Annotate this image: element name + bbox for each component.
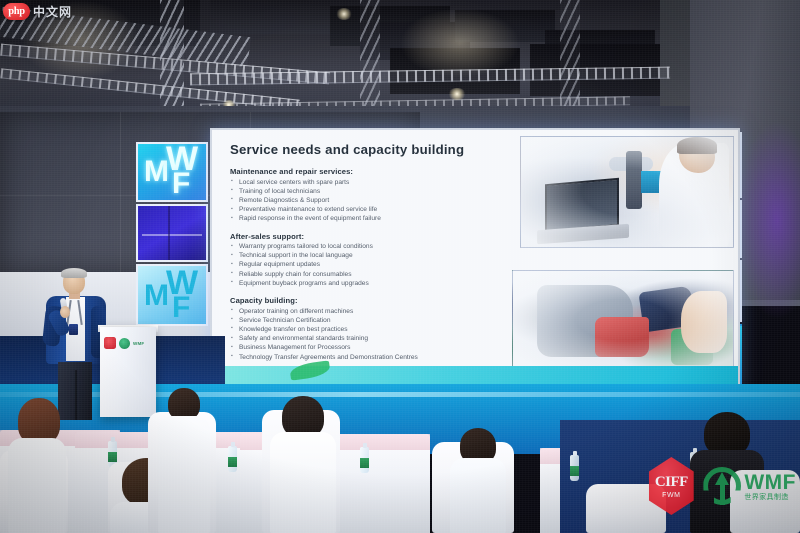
bullet-item: Service Technician Certification (230, 316, 530, 325)
bullet-item: Safety and environmental standards train… (230, 334, 530, 343)
bullet-item: Warranty programs tailored to local cond… (230, 242, 530, 251)
slide-section: Capacity building: Operator training on … (230, 296, 530, 362)
watermark-site-name: 中文网 (33, 3, 72, 20)
watermark-top-left: php 中文网 (3, 3, 72, 20)
bullet-item: Equipment buyback programs and upgrades (230, 279, 530, 288)
watermark-bottom-right: CIFF FWM WMF 世界家具制造 (645, 457, 796, 515)
lectern: WMF (100, 327, 156, 417)
attendee-center-right (450, 428, 506, 533)
bottle-label (570, 466, 579, 476)
wmf-stem-icon (720, 481, 725, 505)
presentation-slide: Service needs and capacity building Main… (212, 130, 738, 388)
wmf-logo-wordmark: WMF 世界家具制造 (744, 472, 796, 501)
ciff-logo: CIFF FWM (645, 457, 697, 515)
php-logo-badge: php (3, 3, 30, 20)
bullet-item: Knowledge transfer on best practices (230, 325, 530, 334)
attendee-top (8, 438, 66, 533)
slide-title: Service needs and capacity building (230, 142, 464, 157)
attendee-front-left (8, 398, 66, 533)
bullet-list: Warranty programs tailored to local cond… (230, 242, 530, 288)
bullet-item: Regular equipment updates (230, 260, 530, 269)
stage-light (336, 8, 352, 20)
ciff-logo-text: CIFF (655, 474, 688, 491)
section-heading: Capacity building: (230, 296, 530, 305)
water-bottle (570, 455, 579, 481)
section-heading: After-sales support: (230, 232, 530, 241)
letter-f: F (172, 296, 190, 320)
slide-photo-operator-with-machinery (512, 270, 734, 370)
bullet-list: Operator training on different machines … (230, 307, 530, 362)
bullet-item: Remote Diagnostics & Support (230, 196, 530, 205)
wmf-tower-panel-lit: M W F (136, 142, 208, 202)
bullet-item: Local service centers with spare parts (230, 178, 530, 187)
slide-section: After-sales support: Warranty programs t… (230, 232, 530, 289)
speaker-badge (69, 324, 78, 335)
wmf-logo-text: WMF (744, 472, 796, 493)
section-heading: Maintenance and repair services: (230, 167, 530, 176)
conference-photo-scene: M W F M W F M W (0, 0, 800, 533)
truss-column (160, 0, 184, 120)
attendee-left-standing (158, 388, 210, 533)
attendee-center (270, 396, 336, 533)
wmf-letters: M W F (138, 266, 206, 324)
slide-body: Maintenance and repair services: Local s… (230, 167, 530, 370)
shelf-line (142, 234, 202, 236)
slide-photo-technician-with-laptop-and-microscope (520, 136, 734, 248)
speaker-hair (61, 268, 87, 278)
wmf-logo-subtext: 世界家具制造 (744, 494, 796, 501)
photo-vignette (513, 271, 733, 369)
bullet-item: Operator training on different machines (230, 307, 530, 316)
lectern-logo-row: WMF (104, 335, 152, 351)
water-bottle (228, 446, 237, 472)
ciff-logo-subtext: FWM (662, 492, 681, 499)
bullet-item: Reliable supply chain for consumables (230, 270, 530, 279)
wmf-logo-icon (119, 338, 130, 349)
trouser-seam (75, 370, 77, 420)
bullet-item: Training of local technicians (230, 187, 530, 196)
bullet-list: Local service centers with spare parts T… (230, 178, 530, 224)
bottle-label (228, 457, 237, 467)
bullet-item: Business Management for Processors (230, 343, 530, 352)
attendee-top (450, 458, 506, 533)
water-bottle (360, 447, 369, 473)
ciff-logo-icon (104, 337, 116, 349)
letter-f: F (172, 172, 190, 196)
attendee-top (270, 432, 336, 533)
wall-seam (120, 112, 121, 272)
wmf-tower-panel-shelf (136, 204, 208, 262)
ceiling-light-glow (400, 8, 520, 78)
photo-vignette (521, 137, 733, 247)
shelf-divider (168, 206, 170, 260)
wmf-logo: WMF 世界家具制造 (703, 467, 796, 505)
bullet-item: Rapid response in the event of equipment… (230, 214, 530, 223)
bottle-label (360, 458, 369, 468)
wmf-letters: M W F (138, 144, 206, 200)
slide-section: Maintenance and repair services: Local s… (230, 167, 530, 224)
attendee-top (158, 416, 210, 533)
bullet-item: Preventative maintenance to extend servi… (230, 205, 530, 214)
speaker-hand (60, 306, 70, 318)
lectern-wmf-label: WMF (133, 341, 144, 346)
stage-light (448, 88, 466, 100)
bullet-item: Technical support in the local language (230, 251, 530, 260)
wmf-tower-panel-pale: M W F (136, 264, 208, 326)
bullet-item: Technology Transfer Agreements and Demon… (230, 353, 530, 362)
wmf-tower-left: M W F M W F (136, 142, 212, 342)
wmf-logo-mark-icon (703, 467, 741, 505)
